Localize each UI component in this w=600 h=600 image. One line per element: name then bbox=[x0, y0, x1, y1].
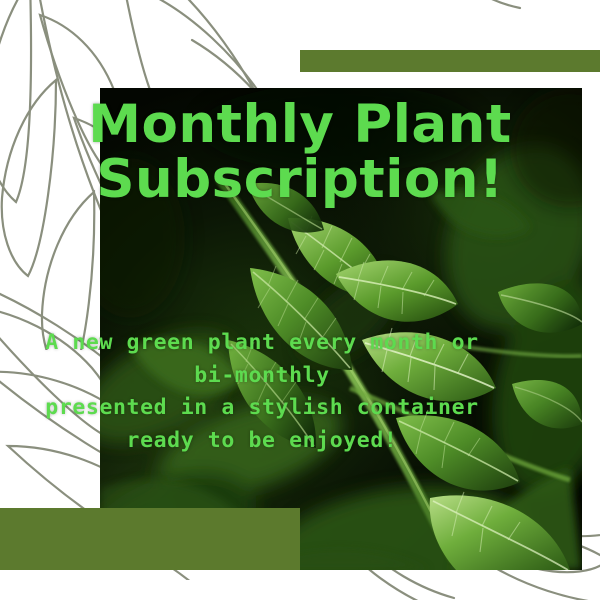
body-copy-line-3: presented in a stylish container bbox=[0, 392, 524, 425]
olive-accent-bar-top bbox=[300, 50, 600, 72]
body-copy-line-1: A new green plant every month or bbox=[0, 327, 524, 360]
olive-accent-bar-bottom-overlay bbox=[100, 508, 300, 570]
body-copy-line-2: bi-monthly bbox=[0, 360, 524, 393]
page-title: Monthly Plant Subscription! bbox=[60, 98, 540, 207]
body-copy-line-4: ready to be enjoyed! bbox=[0, 425, 524, 458]
body-copy: A new green plant every month or bi-mont… bbox=[0, 327, 524, 458]
headline-line-1: Monthly Plant bbox=[88, 94, 511, 155]
poster-canvas: Monthly Plant Subscription! A new green … bbox=[0, 0, 600, 600]
headline-line-2: Subscription! bbox=[60, 153, 540, 208]
